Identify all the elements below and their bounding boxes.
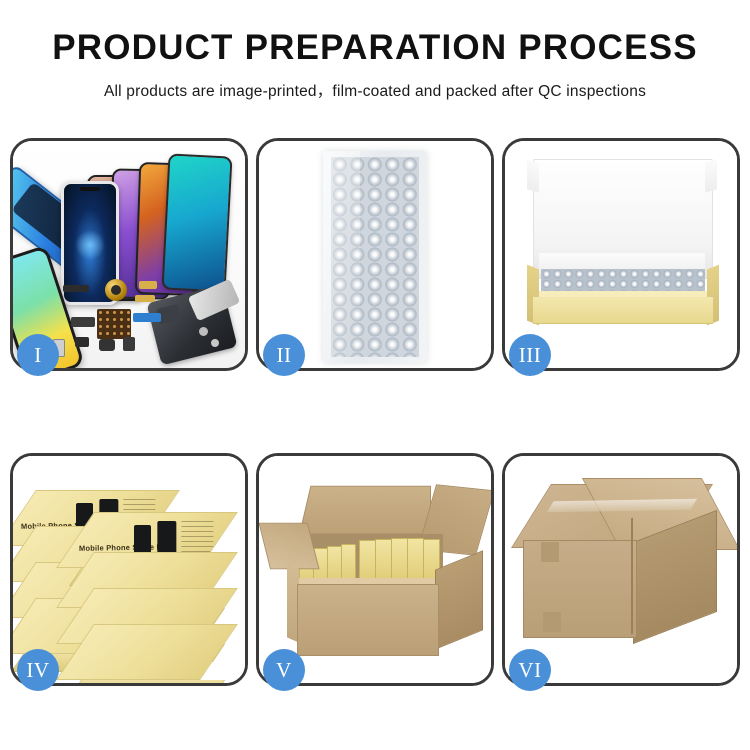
small-part-icon: [75, 337, 89, 347]
open-carton-image: [259, 456, 491, 683]
button-part-icon: [123, 337, 135, 351]
step-badge-4: IV: [17, 649, 59, 691]
step-image-6: [505, 456, 737, 683]
box-phone-image-icon: [134, 525, 151, 555]
carton-front-face-icon: [297, 584, 439, 656]
speaker-part-icon: [99, 339, 115, 351]
box-phone-image-icon: [157, 521, 176, 555]
step-panel-3[interactable]: III: [502, 138, 740, 371]
screw-icon: [211, 339, 219, 347]
step-badge-6: VI: [509, 649, 551, 691]
step-panel-6[interactable]: VI: [502, 453, 740, 686]
step-badge-5: V: [263, 649, 305, 691]
sealed-carton-image: [505, 456, 737, 683]
phone-parts-collage-image: [13, 141, 245, 368]
box-lid-flap-left-icon: [527, 159, 539, 192]
step-image-2: [259, 141, 491, 368]
stacked-boxes-image: Mobile Phone Spare Parts: [13, 456, 245, 683]
page-subtitle: All products are image-printed，film-coat…: [0, 79, 750, 101]
sealed-box-edge-icon: [631, 518, 633, 635]
step-panel-5[interactable]: V: [256, 453, 494, 686]
box-front-face: [69, 680, 225, 683]
gold-connector-icon: [135, 295, 155, 302]
phone-teal-icon: [161, 153, 232, 292]
step-image-3: [505, 141, 737, 368]
step-image-1: [13, 141, 245, 368]
blue-flex-cable-icon: [133, 313, 161, 322]
phone-notch-icon: [80, 187, 100, 191]
speaker-coil-icon: [105, 279, 127, 301]
camera-module-icon: [71, 317, 95, 327]
box-spec-lines-icon: [181, 521, 213, 555]
header: PRODUCT PREPARATION PROCESS All products…: [0, 0, 750, 101]
step-image-5: [259, 456, 491, 683]
inner-box-image: [505, 141, 737, 368]
plastic-gloss-icon: [323, 151, 360, 363]
gold-connector-icon: [139, 281, 157, 289]
flex-cable-icon: [63, 285, 89, 292]
step-image-4: Mobile Phone Spare Parts: [13, 456, 245, 683]
box-flap-tab-icon: [543, 612, 561, 632]
box-lid-flap-right-icon: [705, 159, 717, 192]
box-flap-tab-icon: [541, 542, 559, 562]
step-panel-1[interactable]: I: [10, 138, 248, 371]
bubble-wrap-sheet-icon: [323, 151, 427, 363]
page-title: PRODUCT PREPARATION PROCESS: [0, 30, 750, 65]
steps-grid: I II: [10, 138, 740, 686]
tray-front-icon: [533, 297, 713, 324]
screw-icon: [199, 327, 208, 336]
step-badge-2: II: [263, 334, 305, 376]
step-panel-4[interactable]: Mobile Phone Spare Parts: [10, 453, 248, 686]
screw-tray-icon: [97, 309, 131, 339]
stacked-box: [75, 624, 219, 683]
product-preparation-infographic: PRODUCT PREPARATION PROCESS All products…: [0, 0, 750, 750]
step-badge-3: III: [509, 334, 551, 376]
step-panel-2[interactable]: II: [256, 138, 494, 371]
carton-flap-back-icon: [299, 486, 431, 535]
box-top-face: [56, 624, 238, 680]
bubble-wrap-image: [259, 141, 491, 368]
step-badge-1: I: [17, 334, 59, 376]
